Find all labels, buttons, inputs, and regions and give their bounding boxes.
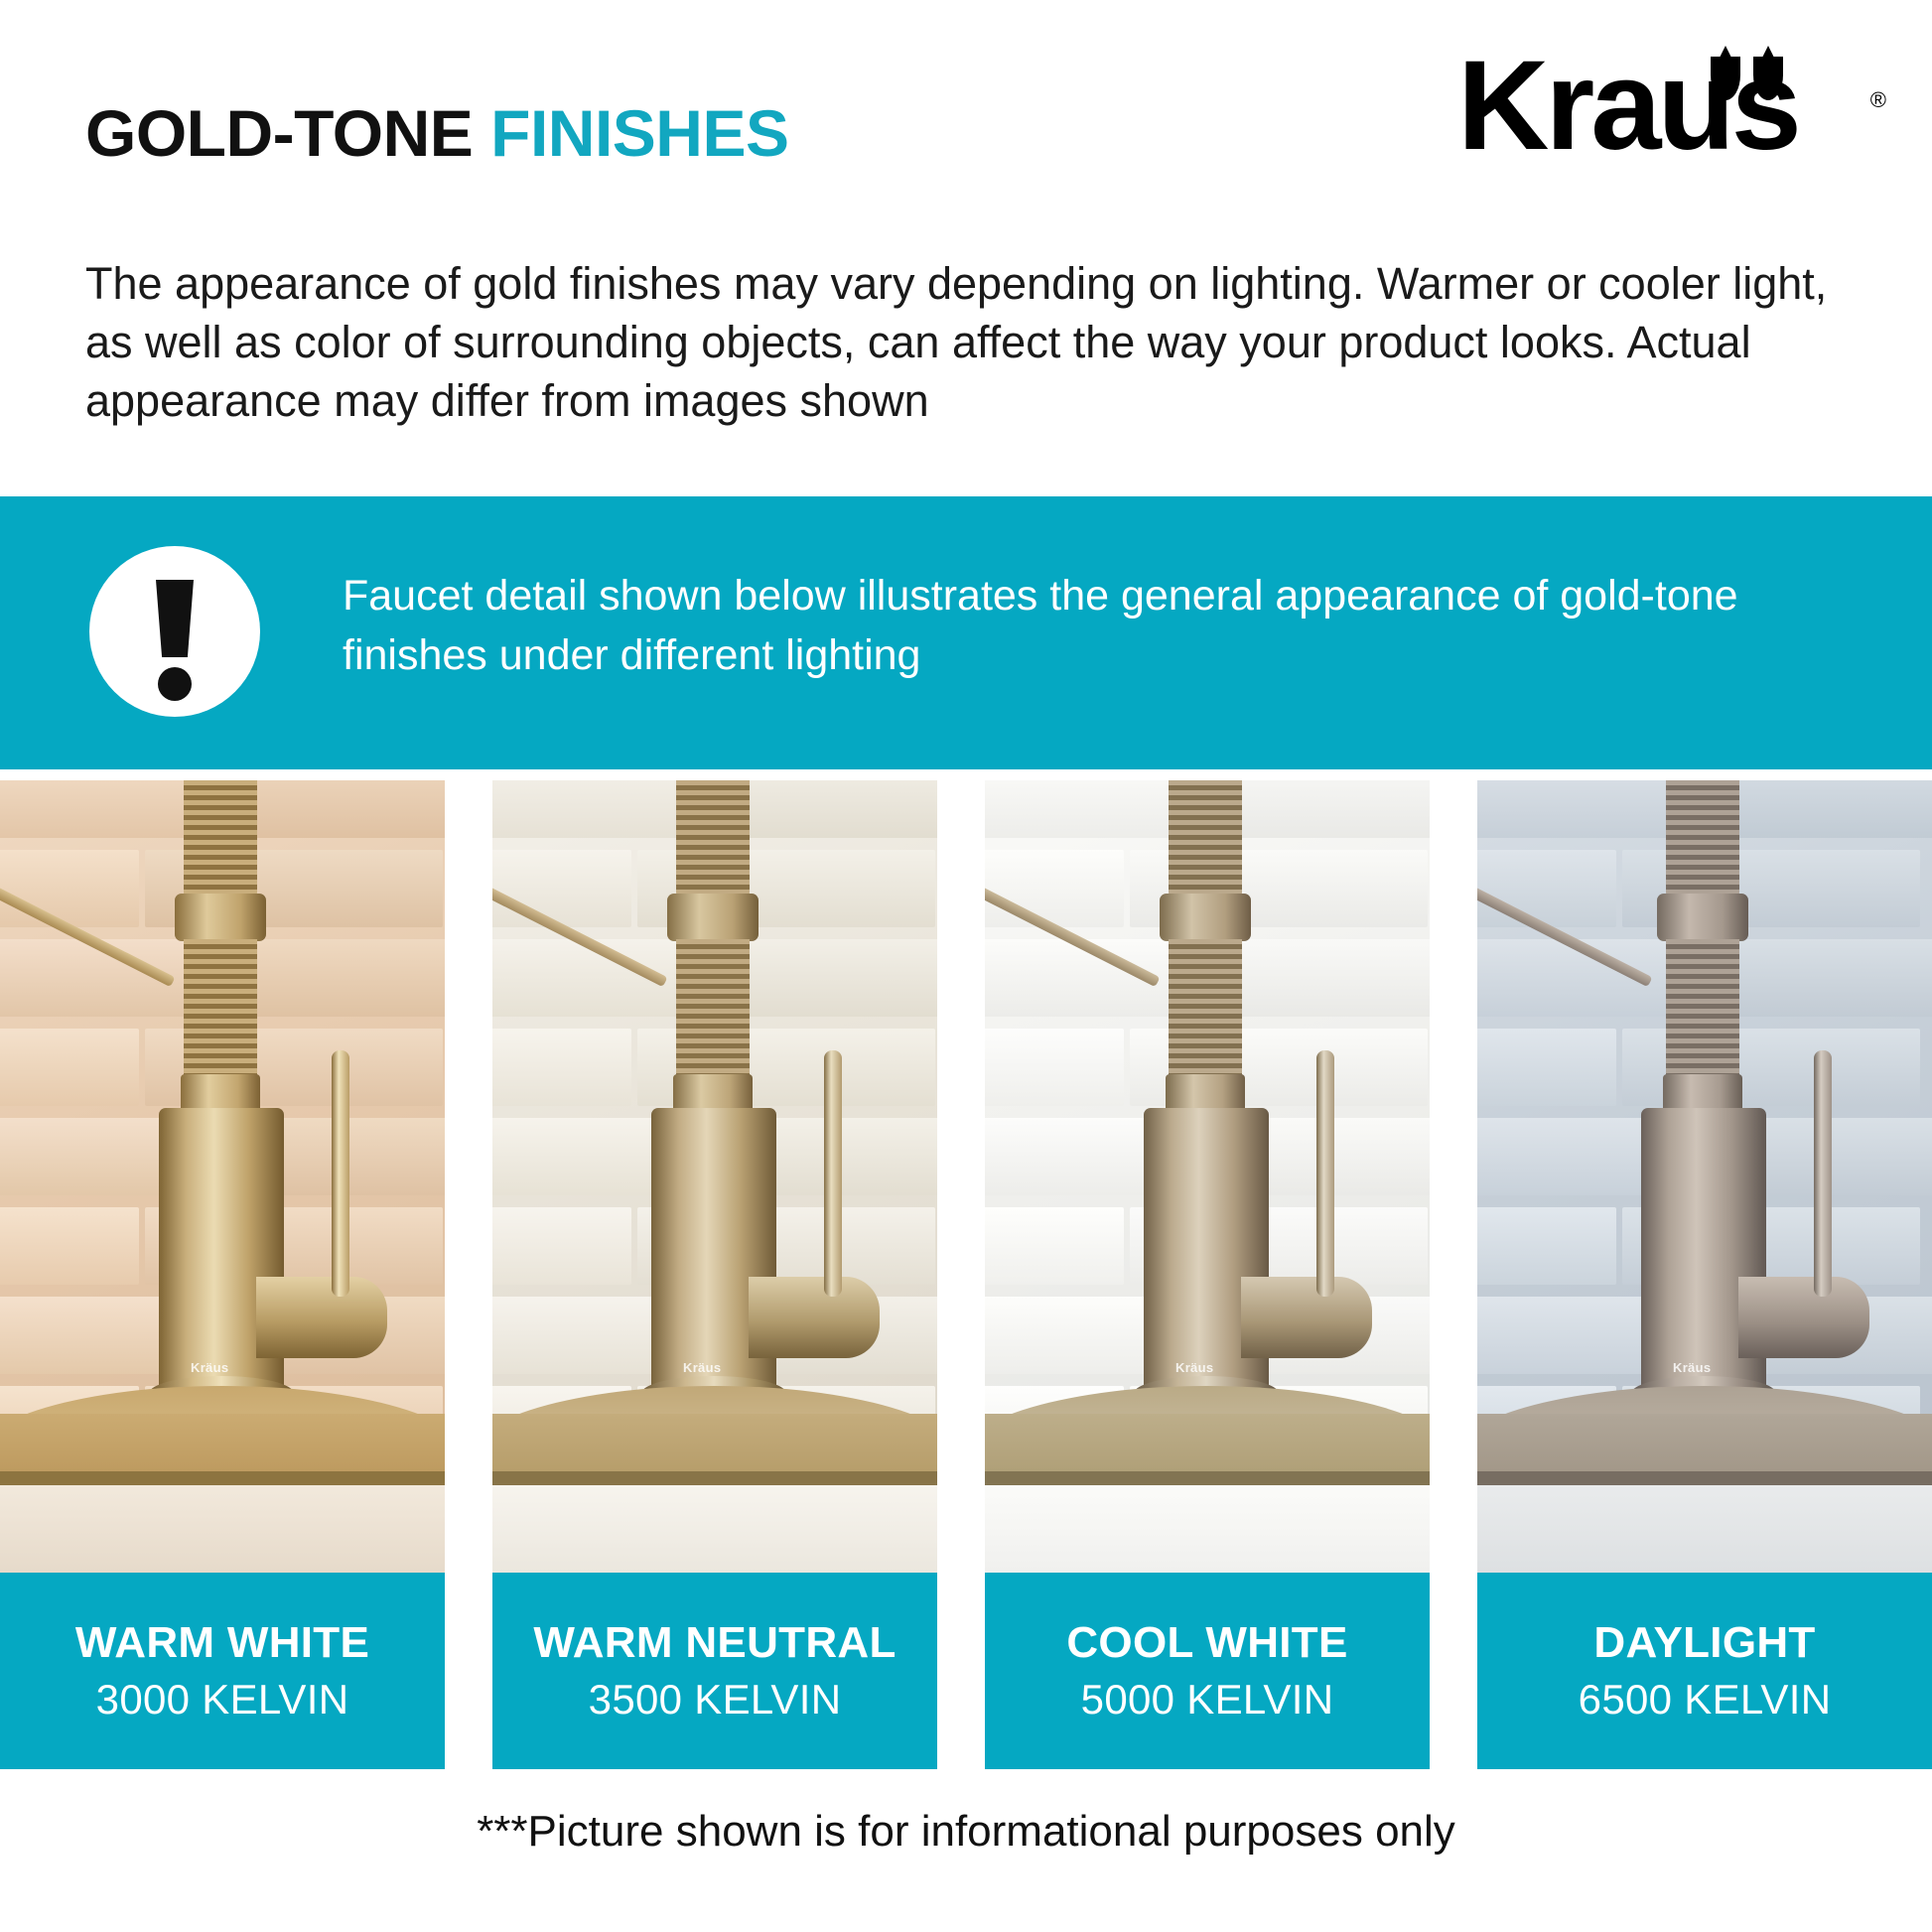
exclamation-dot [158, 667, 192, 701]
faucet-collar [667, 894, 759, 941]
faucet-coil-lower [676, 939, 750, 1078]
faucet-coil-lower [184, 939, 257, 1078]
panel-caption: WARM NEUTRAL 3500 KELVIN [492, 1573, 937, 1769]
faucet-brand-mark: Kräus [683, 1360, 721, 1375]
faucet-brand-mark: Kräus [1673, 1360, 1711, 1375]
panel-caption: COOL WHITE 5000 KELVIN [985, 1573, 1430, 1769]
countertop [1477, 1414, 1932, 1573]
faucet-valve-housing [256, 1277, 387, 1358]
footnote: ***Picture shown is for informational pu… [0, 1807, 1932, 1857]
faucet-coil-lower [1666, 939, 1739, 1078]
faucet-valve-housing [1738, 1277, 1869, 1358]
faucet-collar [1160, 894, 1251, 941]
kraus-logo: Kraus ® [1457, 44, 1884, 183]
finish-name: WARM WHITE [75, 1618, 369, 1668]
faucet-coil-upper [676, 780, 750, 897]
faucet-handle [332, 1050, 349, 1297]
registered-trademark-icon: ® [1870, 87, 1886, 113]
faucet-collar [1657, 894, 1748, 941]
finish-name: COOL WHITE [1066, 1618, 1347, 1668]
page-title-primary: GOLD-TONE [85, 96, 473, 170]
faucet-coil-upper [1169, 780, 1242, 897]
notice-text: Faucet detail shown below illustrates th… [343, 566, 1782, 685]
finish-kelvin: 5000 KELVIN [1081, 1676, 1334, 1724]
finish-panel-warm-neutral: Kräus WARM NEUTRAL 3500 KELVIN [492, 780, 937, 1769]
faucet-photo: Kräus [0, 780, 445, 1573]
intro-paragraph: The appearance of gold finishes may vary… [85, 254, 1863, 430]
kraus-logo-wordmark: Kraus [1457, 44, 1798, 169]
faucet-handle [1316, 1050, 1334, 1297]
page-title: GOLD-TONE FINISHES [85, 95, 789, 171]
exclamation-icon [89, 546, 260, 717]
countertop [492, 1414, 937, 1573]
faucet-valve-housing [1241, 1277, 1372, 1358]
finish-kelvin: 3000 KELVIN [96, 1676, 349, 1724]
faucet-collar [175, 894, 266, 941]
finish-name: DAYLIGHT [1593, 1618, 1815, 1668]
faucet-coil-upper [184, 780, 257, 897]
faucet-handle [824, 1050, 842, 1297]
faucet-photo: Kräus [492, 780, 937, 1573]
finish-panel-cool-white: Kräus COOL WHITE 5000 KELVIN [985, 780, 1430, 1769]
countertop [0, 1414, 445, 1573]
header: GOLD-TONE FINISHES Kraus ® The appearanc… [0, 0, 1932, 496]
finish-kelvin: 6500 KELVIN [1579, 1676, 1832, 1724]
panel-caption: WARM WHITE 3000 KELVIN [0, 1573, 445, 1769]
faucet-valve-housing [749, 1277, 880, 1358]
faucet-photo: Kräus [985, 780, 1430, 1573]
faucet-coil-lower [1169, 939, 1242, 1078]
exclamation-bar [156, 580, 194, 657]
finish-comparison-strip: Kräus WARM WHITE 3000 KELVIN [0, 780, 1932, 1769]
finish-panel-daylight: Kräus DAYLIGHT 6500 KELVIN [1477, 780, 1932, 1769]
panel-caption: DAYLIGHT 6500 KELVIN [1477, 1573, 1932, 1769]
page-title-secondary: FINISHES [490, 96, 788, 170]
countertop [985, 1414, 1430, 1573]
faucet-brand-mark: Kräus [1175, 1360, 1213, 1375]
notice-banner: Faucet detail shown below illustrates th… [0, 496, 1932, 769]
faucet-photo: Kräus [1477, 780, 1932, 1573]
faucet-handle [1814, 1050, 1832, 1297]
finish-panel-warm-white: Kräus WARM WHITE 3000 KELVIN [0, 780, 445, 1769]
finish-name: WARM NEUTRAL [533, 1618, 896, 1668]
faucet-brand-mark: Kräus [191, 1360, 228, 1375]
faucet-coil-upper [1666, 780, 1739, 897]
finish-kelvin: 3500 KELVIN [589, 1676, 842, 1724]
